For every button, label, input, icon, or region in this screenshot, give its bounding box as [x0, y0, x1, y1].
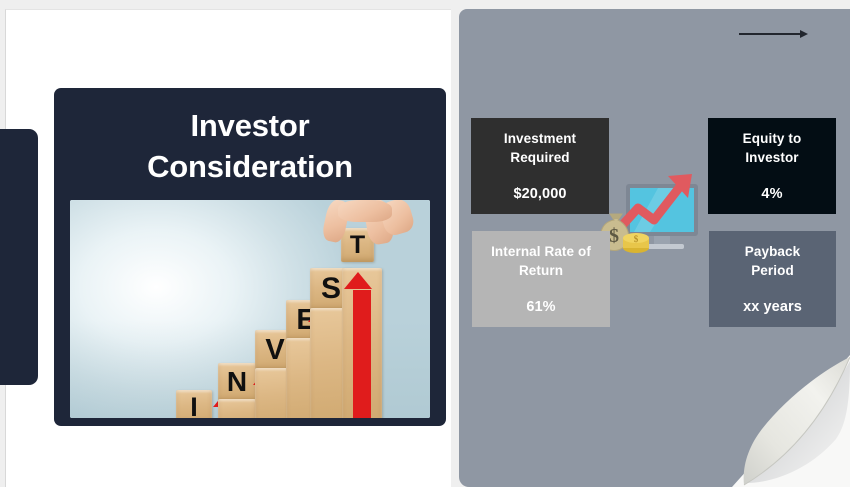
arrow-shaft-5 [353, 290, 371, 418]
left-edge-bar [0, 129, 38, 385]
metric-card-internal-rate-of-return[interactable]: Internal Rate of Return 61% [472, 231, 610, 327]
metric-title-line2: Investor [743, 149, 802, 168]
metric-title-line2: Required [504, 149, 576, 168]
metric-title-line1: Payback [745, 243, 801, 262]
metric-card-equity-to-investor[interactable]: Equity to Investor 4% [708, 118, 836, 214]
metric-value: xx years [743, 299, 802, 315]
metric-title: Internal Rate of Return [491, 243, 591, 280]
arrow-head-5 [344, 272, 372, 289]
metric-card-payback-period[interactable]: Payback Period xx years [709, 231, 836, 327]
svg-text:$: $ [634, 234, 639, 244]
arrow-right-icon[interactable] [738, 26, 810, 42]
block-letter-i: I [176, 390, 212, 418]
growth-chart-money-icon: $ $ [600, 172, 712, 268]
screenshot-root: Investor Consideration I N [0, 0, 850, 487]
metric-title-line1: Investment [504, 130, 576, 149]
metric-title-line1: Internal Rate of [491, 243, 591, 262]
block-n: N [218, 363, 256, 401]
metric-title: Investment Required [504, 130, 576, 167]
metric-title: Payback Period [745, 243, 801, 280]
block-i: I [176, 390, 212, 418]
metric-value: 4% [761, 186, 782, 202]
metric-card-investment-required[interactable]: Investment Required $20,000 [471, 118, 609, 214]
page-title-line1: Investor [76, 106, 424, 147]
hand-palm [338, 200, 392, 222]
svg-text:$: $ [609, 225, 619, 247]
block-letter-n: N [218, 363, 256, 401]
page-title: Investor Consideration [70, 102, 430, 188]
page-title-line2: Consideration [76, 147, 424, 188]
investor-consideration-slide[interactable]: Investor Consideration I N [54, 88, 446, 426]
metric-title-line2: Return [491, 262, 591, 281]
metric-value: $20,000 [513, 186, 566, 202]
metric-title-line2: Period [745, 262, 801, 281]
wooden-blocks-invest-photo: I N V E [70, 200, 430, 418]
metric-title: Equity to Investor [743, 130, 802, 167]
metric-title-line1: Equity to [743, 130, 802, 149]
left-white-panel: Investor Consideration I N [5, 9, 451, 487]
metric-value: 61% [526, 299, 555, 315]
block-n-base [218, 399, 256, 418]
